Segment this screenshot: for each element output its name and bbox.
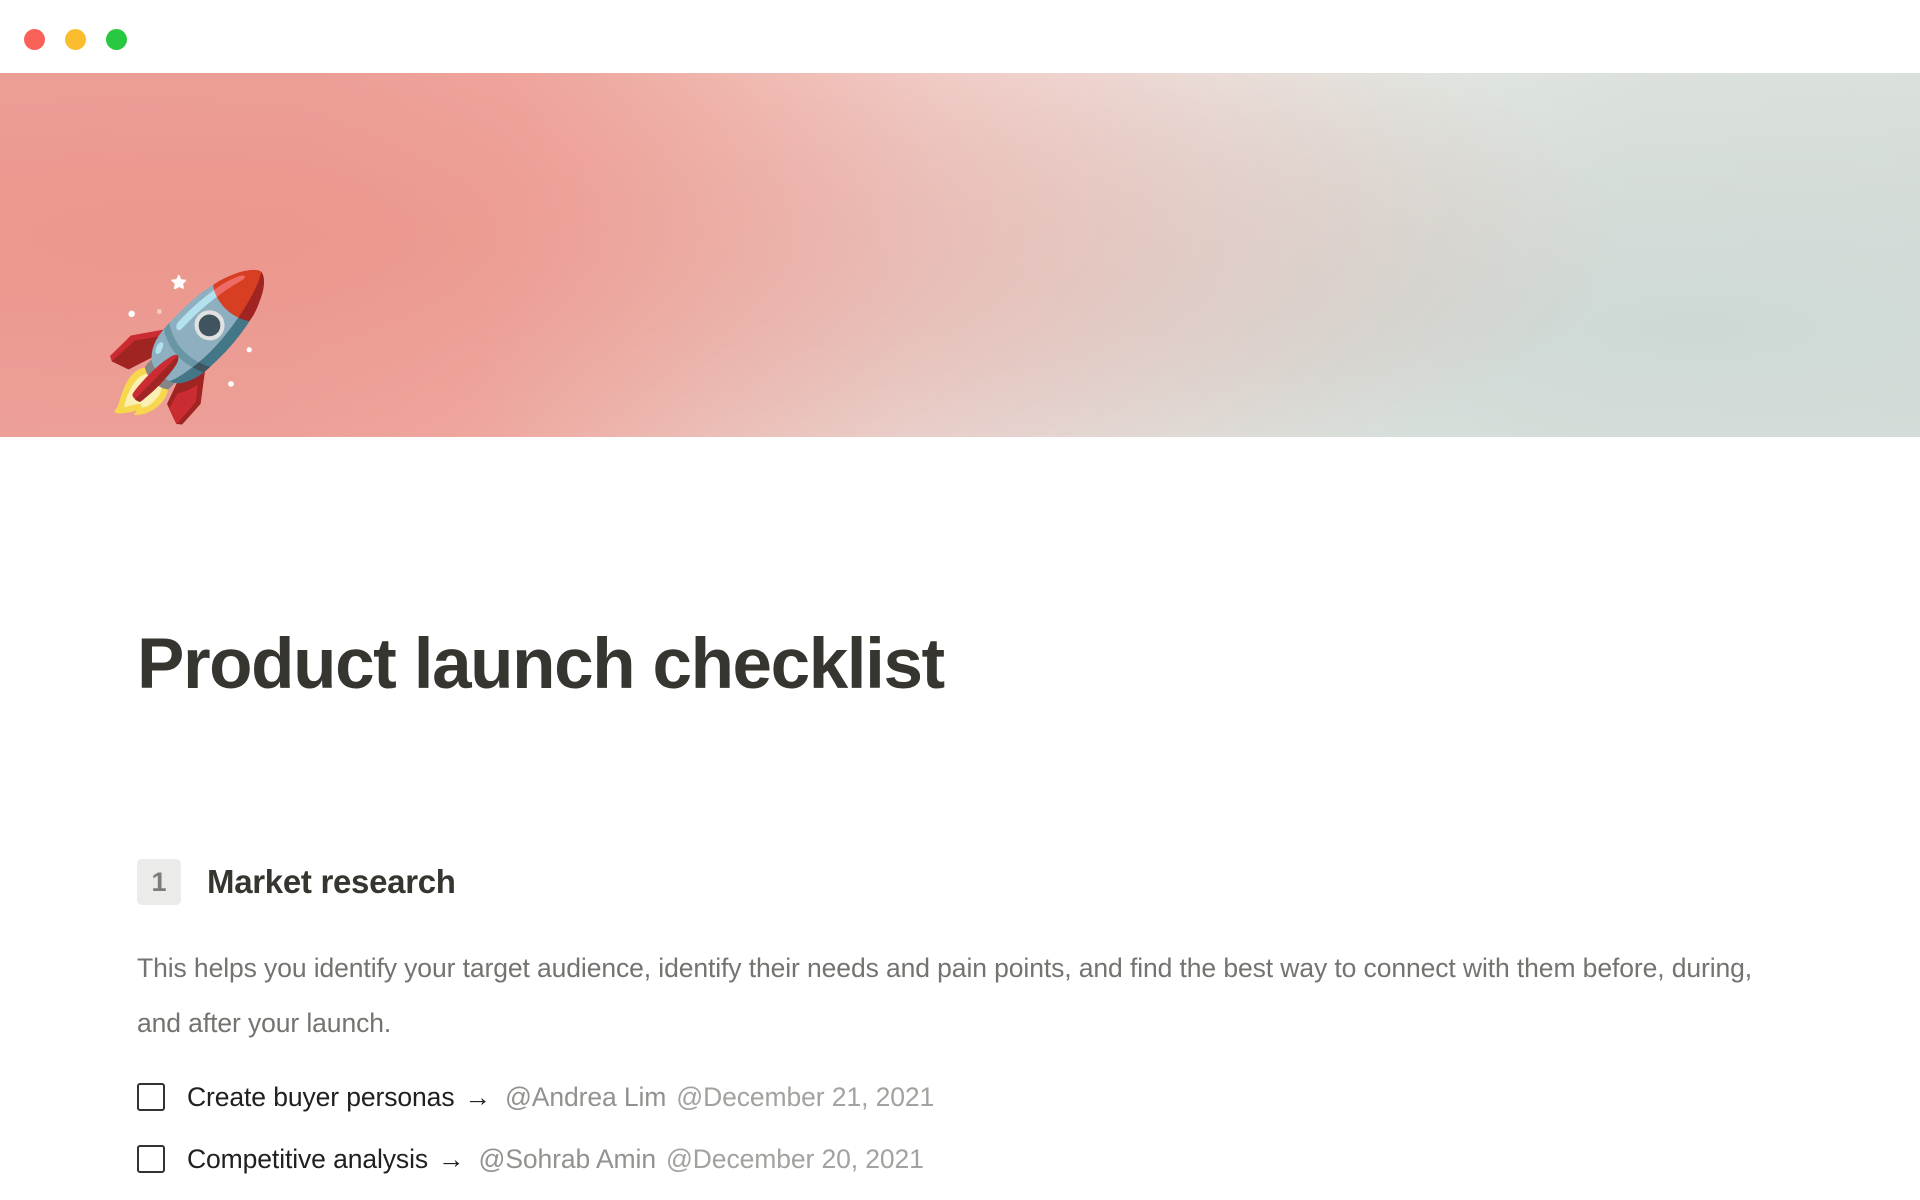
todo-list: Create buyer personas → @Andrea Lim @Dec…	[137, 1066, 1837, 1200]
date-mention[interactable]: @December 21, 2021	[676, 1082, 934, 1113]
person-mention[interactable]: @Sohrab Amin	[479, 1144, 656, 1175]
rocket-emoji-icon[interactable]: 🚀	[100, 276, 270, 446]
todo-label: Competitive analysis	[187, 1144, 428, 1175]
window-titlebar	[0, 0, 1920, 73]
arrow-right-icon: →	[438, 1144, 465, 1175]
todo-label: Create buyer personas	[187, 1082, 454, 1113]
section-title[interactable]: Market research	[207, 863, 456, 901]
todo-item-nested[interactable]: Identify and analyze direct competitors …	[137, 1190, 1837, 1200]
person-mention[interactable]: @Andrea Lim	[505, 1082, 666, 1113]
section-number-badge: 1	[137, 859, 181, 905]
maximize-window-button[interactable]	[106, 29, 127, 50]
page-body: 🚀 Product launch checklist 1 Market rese…	[0, 73, 1920, 1200]
checkbox-unchecked-icon[interactable]	[137, 1083, 165, 1111]
todo-item[interactable]: Competitive analysis → @Sohrab Amin @Dec…	[137, 1128, 1837, 1190]
todo-item[interactable]: Create buyer personas → @Andrea Lim @Dec…	[137, 1066, 1837, 1128]
app-window: 🚀 Product launch checklist 1 Market rese…	[0, 0, 1920, 1200]
traffic-light-controls	[24, 29, 127, 50]
page-title[interactable]: Product launch checklist	[137, 626, 944, 704]
checkbox-unchecked-icon[interactable]	[137, 1145, 165, 1173]
section-description[interactable]: This helps you identify your target audi…	[137, 941, 1797, 1051]
minimize-window-button[interactable]	[65, 29, 86, 50]
date-mention[interactable]: @December 20, 2021	[666, 1144, 924, 1175]
arrow-right-icon: →	[464, 1082, 491, 1113]
close-window-button[interactable]	[24, 29, 45, 50]
section-heading-market-research: 1 Market research	[137, 859, 456, 905]
